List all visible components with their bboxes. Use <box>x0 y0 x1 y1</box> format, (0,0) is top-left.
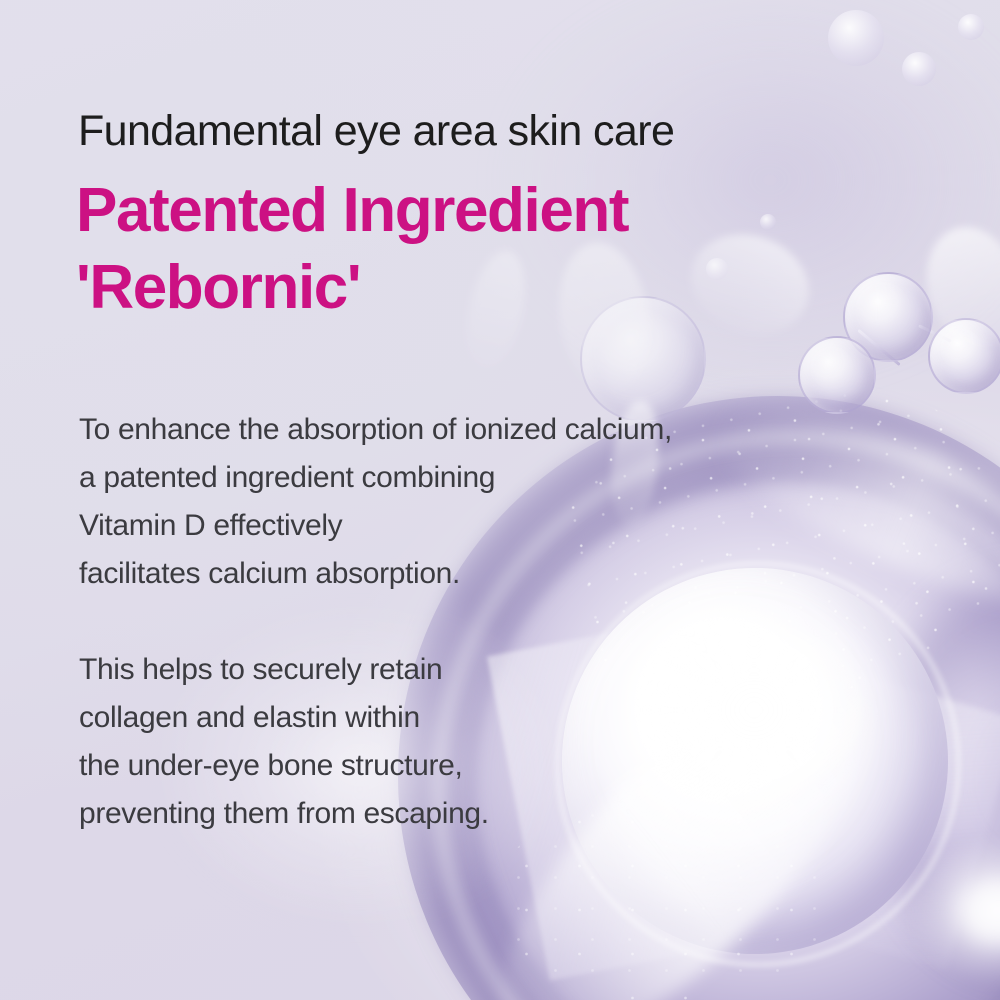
paragraph-2-line-3: the under-eye bone structure, <box>79 742 639 790</box>
paragraph-1-line-3: Vitamin D effectively <box>79 502 639 550</box>
paragraph-1-line-2: a patented ingredient combining <box>79 454 639 502</box>
eyebrow-text: Fundamental eye area skin care <box>78 108 674 154</box>
headline-line-1: Patented Ingredient <box>76 176 628 245</box>
paragraph-2-line-1: This helps to securely retain <box>79 646 639 694</box>
paragraph-1-line-1: To enhance the absorption of ionized cal… <box>79 406 639 454</box>
body-copy: To enhance the absorption of ionized cal… <box>79 406 639 838</box>
paragraph-2: This helps to securely retain collagen a… <box>79 646 639 838</box>
paragraph-2-line-2: collagen and elastin within <box>79 694 639 742</box>
paragraph-1: To enhance the absorption of ionized cal… <box>79 406 639 598</box>
paragraph-1-line-4: facilitates calcium absorption. <box>79 550 639 598</box>
headline-line-2: 'Rebornic' <box>76 253 628 322</box>
poster-content: Fundamental eye area skin care Patented … <box>0 0 1000 1000</box>
page-title: Patented Ingredient 'Rebornic' <box>76 176 628 323</box>
paragraph-2-line-4: preventing them from escaping. <box>79 790 639 838</box>
promo-poster: Fundamental eye area skin care Patented … <box>0 0 1000 1000</box>
